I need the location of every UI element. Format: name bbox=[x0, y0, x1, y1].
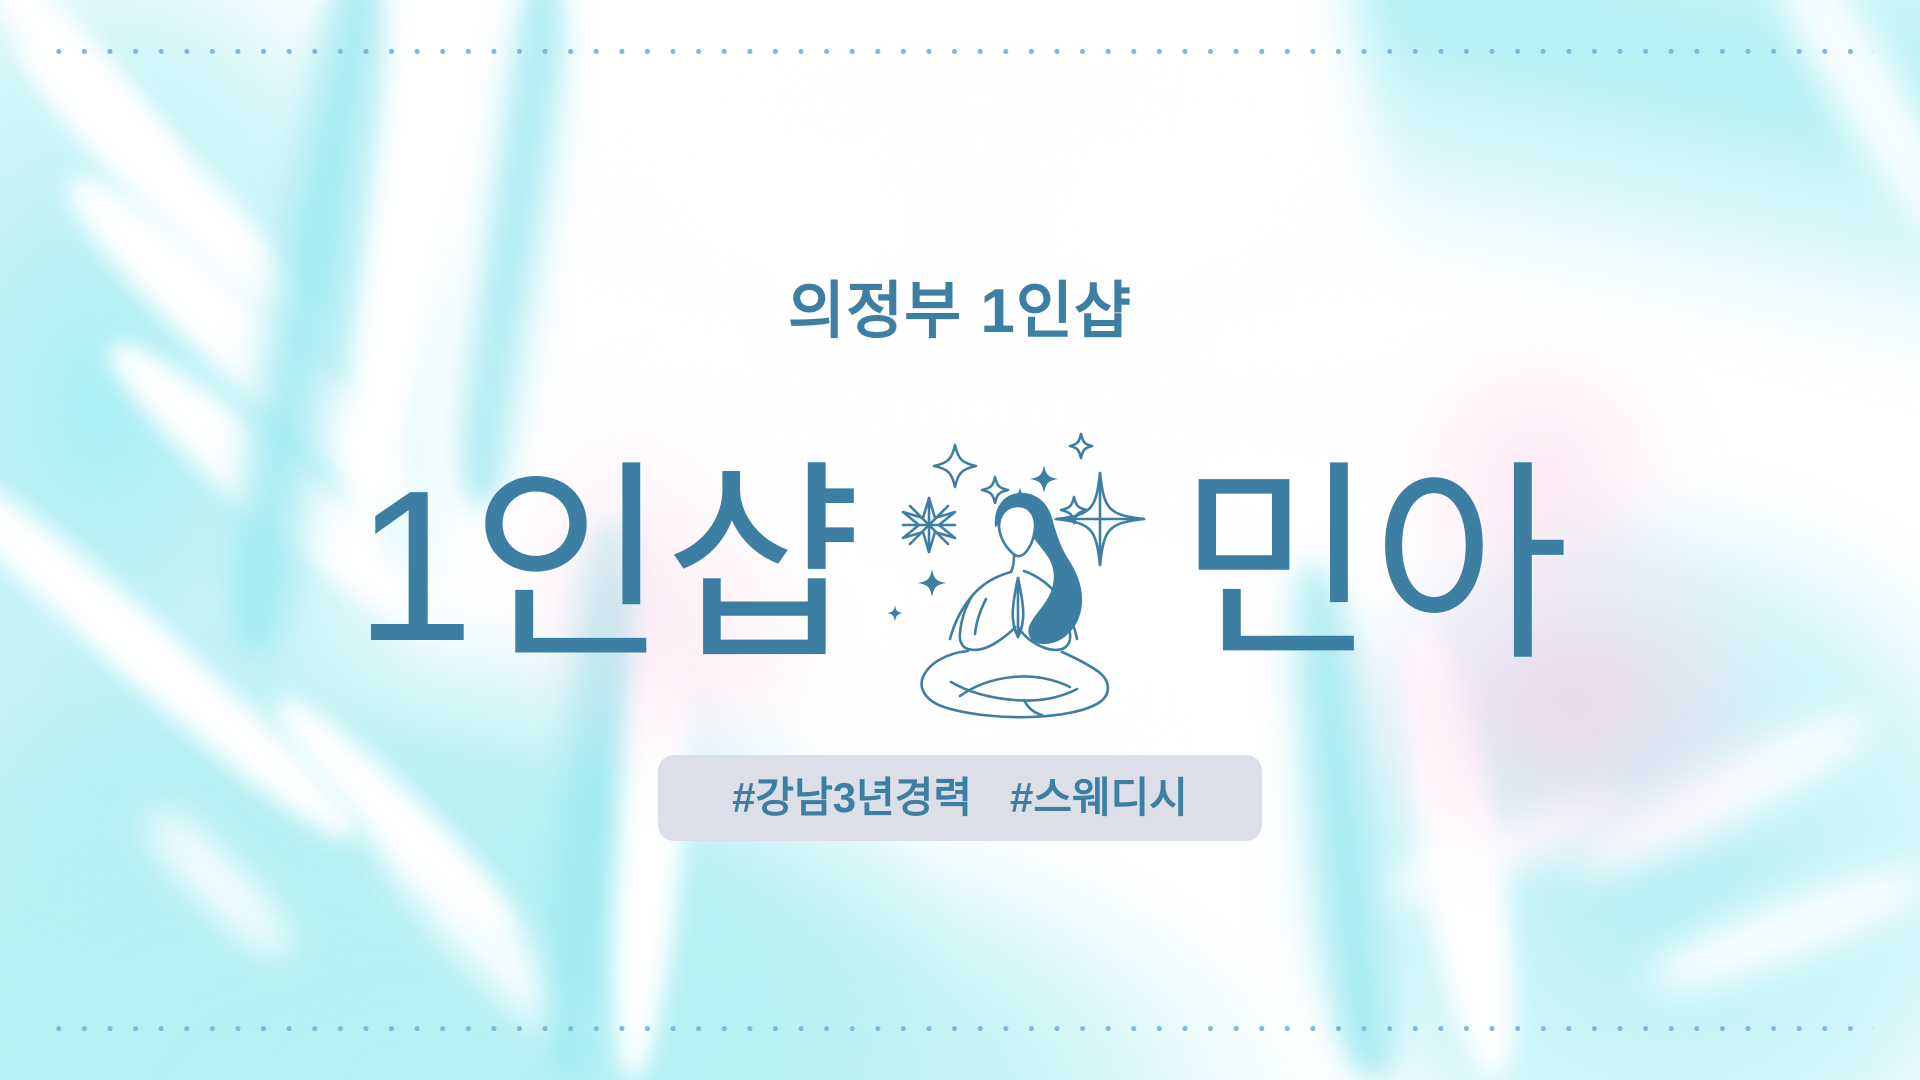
figure-arm-left bbox=[960, 596, 1015, 650]
sparkle-four-point-outline bbox=[934, 445, 976, 487]
sparkle-diamond-left bbox=[918, 569, 946, 597]
sparkle-diamond-filled bbox=[1030, 465, 1058, 493]
banner-headline: 1인샵 bbox=[0, 420, 1920, 710]
hashtag-pill: #강남3년경력 #스웨디시 bbox=[658, 755, 1262, 841]
figure-foot bbox=[1024, 700, 1042, 715]
sparkle-four-point-tiny bbox=[1070, 434, 1092, 458]
sparkle-diamond-far-left bbox=[887, 605, 903, 622]
sparkle-burst-eight-point bbox=[903, 498, 955, 552]
sparkle-four-point-small bbox=[982, 477, 1008, 503]
banner-content: 의정부 1인샵 1인샵 bbox=[0, 0, 1920, 1080]
figure-legs-base bbox=[921, 651, 1107, 717]
figure-arm-left-inner bbox=[975, 599, 986, 634]
headline-right-word: 민아 bbox=[1178, 458, 1566, 673]
sparkle-large-four-point bbox=[1056, 473, 1144, 565]
meditating-woman-icon bbox=[868, 421, 1168, 721]
figure-neck bbox=[1011, 555, 1014, 572]
headline-left-word: 1인샵 bbox=[355, 458, 858, 673]
hashtag-experience: #강남3년경력 bbox=[732, 777, 972, 819]
banner-subtitle: 의정부 1인샵 bbox=[0, 281, 1920, 343]
hashtag-service: #스웨디시 bbox=[1010, 777, 1188, 819]
promo-banner: 의정부 1인샵 1인샵 bbox=[0, 0, 1920, 1080]
figure-head bbox=[999, 506, 1035, 556]
